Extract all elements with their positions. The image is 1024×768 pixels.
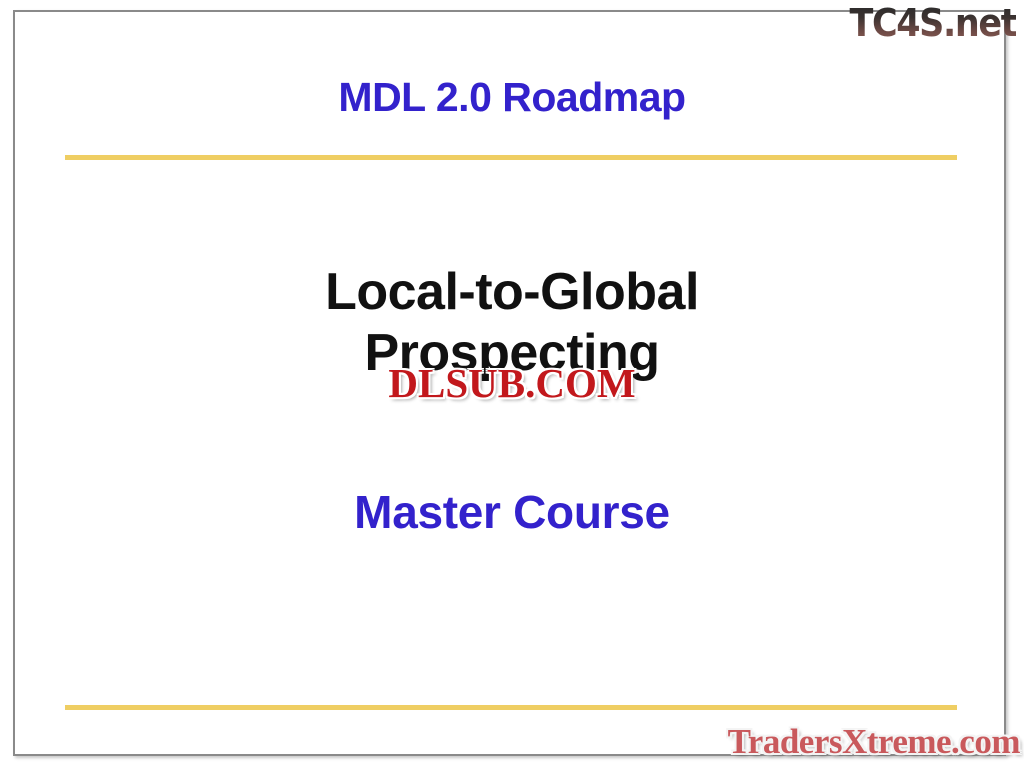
footer-divider-rule-bottom <box>65 705 957 710</box>
slide-title: MDL 2.0 Roadmap <box>0 74 1024 121</box>
headline-line-1: Local-to-Global <box>0 262 1024 323</box>
watermark-dlsub: DLSUB.COM <box>0 359 1024 407</box>
slide-subheadline: Master Course <box>0 485 1024 539</box>
watermark-tc4s: TC4S.net <box>849 4 1016 42</box>
watermark-tradersxtreme: TradersXtreme.com <box>728 722 1020 762</box>
title-divider-rule-top <box>65 155 957 160</box>
presentation-slide: MDL 2.0 Roadmap Local-to-Global Prospect… <box>0 0 1024 768</box>
